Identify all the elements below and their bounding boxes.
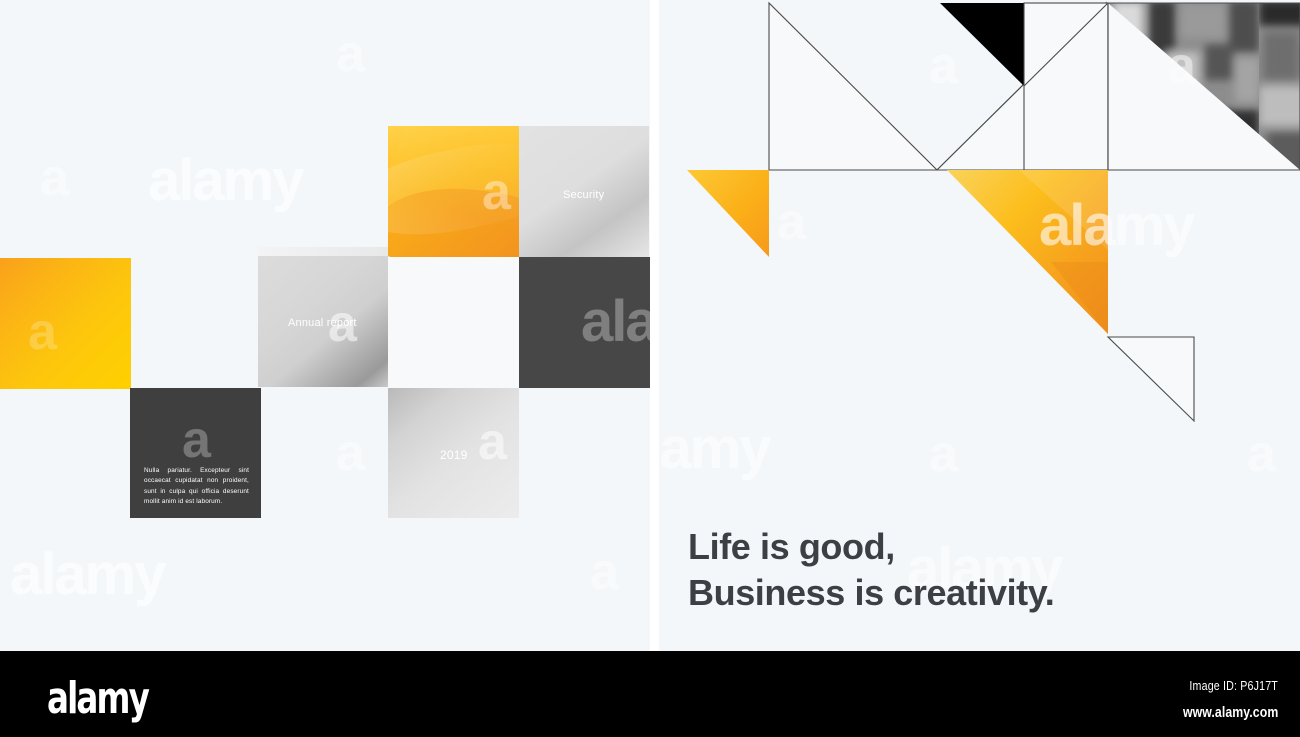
watermark-a-letter: a — [590, 546, 619, 598]
screenshot-canvas: alamy alamy a a a a a a a Annual report … — [0, 0, 1300, 737]
headline-line-2: Business is creativity. — [688, 570, 1054, 616]
outlined-square — [1024, 3, 1108, 170]
right-design-panel: alamy a a a a a alamy alamy Life is good… — [659, 0, 1300, 651]
watermark-a-letter: a — [336, 427, 365, 479]
watermark-a-letter: a — [40, 152, 69, 204]
yellow-triangle — [687, 170, 769, 257]
grey-square-security-tile: Security — [519, 126, 649, 257]
image-id-label: Image ID: P6J17T — [1189, 678, 1278, 693]
dark-square-body-copy-tile: a Nulla pariatur. Excepteur sint occaeca… — [130, 388, 261, 518]
alamy-logo: alamy — [47, 673, 148, 724]
white-square-tile — [388, 257, 519, 388]
yellow-square-tile: a — [0, 258, 131, 389]
alamy-footer-bar: alamy Image ID: P6J17T www.alamy.com — [0, 651, 1300, 737]
watermark-alamy-word: alamy — [148, 152, 302, 210]
tile-connector-top — [258, 247, 390, 256]
large-outlined-triangle — [769, 3, 937, 170]
watermark-a-letter: a — [28, 306, 57, 358]
black-triangle — [940, 3, 1024, 86]
watermark-a-letter: a — [478, 416, 507, 468]
watermark-a-letter: a — [182, 414, 211, 466]
headline: Life is good, Business is creativity. — [688, 524, 1054, 616]
grey-square-2019-tile: a 2019 — [388, 388, 519, 518]
tile-label-year: 2019 — [440, 448, 468, 462]
small-outlined-triangle — [1108, 337, 1194, 421]
watermark-alamy-word: alamy — [10, 546, 164, 604]
tile-label-annual-report: Annual report — [288, 317, 357, 329]
grey-square-annual-report-tile: a Annual report — [258, 256, 390, 387]
headline-line-1: Life is good, — [688, 526, 895, 567]
tangram-composition — [659, 0, 1300, 460]
tile-body-copy: Nulla pariatur. Excepteur sint occaecat … — [144, 466, 249, 508]
dark-square-tile-right: alamy — [519, 257, 650, 388]
left-design-panel: alamy alamy a a a a a a a Annual report … — [0, 0, 650, 651]
alamy-url-label[interactable]: www.alamy.com — [1183, 704, 1278, 721]
watermark-a-letter: a — [336, 28, 365, 80]
orange-gradient-square-tile: a — [388, 126, 519, 257]
watermark-alamy-word: alamy — [581, 293, 650, 351]
tile-label-security: Security — [563, 189, 604, 201]
